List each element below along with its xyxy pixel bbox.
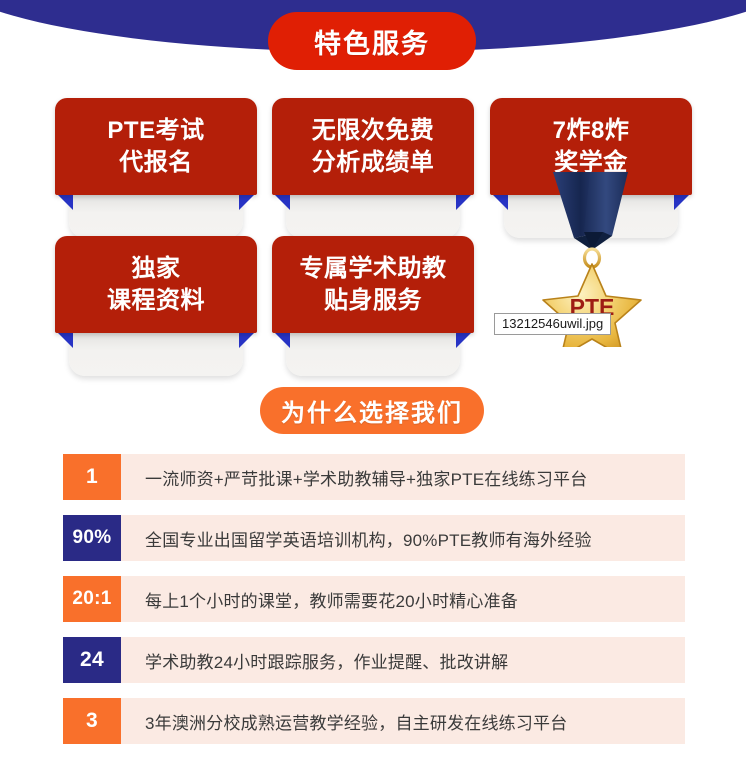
reason-badge: 90% (63, 515, 121, 561)
image-filename-text: 13212546uwil.jpg (502, 316, 603, 331)
card-face: PTE考试 代报名 (55, 98, 257, 195)
card-title-line1: PTE考试 (107, 115, 204, 147)
list-item[interactable]: 24 学术助教24小时跟踪服务，作业提醒、批改讲解 (63, 637, 685, 683)
why-choose-us-heading-label: 为什么选择我们 (281, 393, 463, 428)
feature-card[interactable]: 无限次免费 分析成绩单 (272, 98, 474, 238)
list-item[interactable]: 1 一流师资+严苛批课+学术助教辅导+独家PTE在线练习平台 (63, 454, 685, 500)
card-base-plate (286, 332, 460, 376)
card-title-line2: 分析成绩单 (312, 147, 435, 179)
card-title-line1: 专属学术助教 (300, 253, 447, 285)
card-base-plate (69, 332, 243, 376)
card-face: 独家 课程资料 (55, 236, 257, 333)
card-title-line1: 7炸8炸 (553, 115, 630, 147)
reason-text: 一流师资+严苛批课+学术助教辅导+独家PTE在线练习平台 (121, 454, 685, 500)
reason-text: 学术助教24小时跟踪服务，作业提醒、批改讲解 (121, 637, 685, 683)
feature-card[interactable]: PTE考试 代报名 (55, 98, 257, 238)
card-title-line1: 无限次免费 (312, 115, 435, 147)
why-choose-us-list: 1 一流师资+严苛批课+学术助教辅导+独家PTE在线练习平台 90% 全国专业出… (63, 454, 685, 759)
card-title-line1: 独家 (132, 253, 181, 285)
reason-badge: 24 (63, 637, 121, 683)
card-face: 无限次免费 分析成绩单 (272, 98, 474, 195)
feature-card[interactable]: 专属学术助教 贴身服务 (272, 236, 474, 376)
featured-services-heading: 特色服务 (268, 12, 476, 70)
feature-card[interactable]: 独家 课程资料 (55, 236, 257, 376)
reason-text: 每上1个小时的课堂，教师需要花20小时精心准备 (121, 576, 685, 622)
reason-text: 3年澳洲分校成熟运营教学经验，自主研发在线练习平台 (121, 698, 685, 744)
card-base-plate (69, 194, 243, 238)
featured-services-heading-label: 特色服务 (314, 22, 430, 61)
card-title-line2: 贴身服务 (324, 285, 422, 317)
card-base-plate (286, 194, 460, 238)
list-item[interactable]: 20:1 每上1个小时的课堂，教师需要花20小时精心准备 (63, 576, 685, 622)
list-item[interactable]: 90% 全国专业出国留学英语培训机构，90%PTE教师有海外经验 (63, 515, 685, 561)
image-filename-tooltip: 13212546uwil.jpg (494, 313, 611, 335)
why-choose-us-heading: 为什么选择我们 (260, 387, 484, 434)
card-face: 专属学术助教 贴身服务 (272, 236, 474, 333)
card-title-line2: 代报名 (119, 147, 193, 179)
reason-text: 全国专业出国留学英语培训机构，90%PTE教师有海外经验 (121, 515, 685, 561)
reason-badge: 1 (63, 454, 121, 500)
reason-badge: 3 (63, 698, 121, 744)
card-title-line2: 课程资料 (107, 285, 205, 317)
list-item[interactable]: 3 3年澳洲分校成熟运营教学经验，自主研发在线练习平台 (63, 698, 685, 744)
reason-badge: 20:1 (63, 576, 121, 622)
